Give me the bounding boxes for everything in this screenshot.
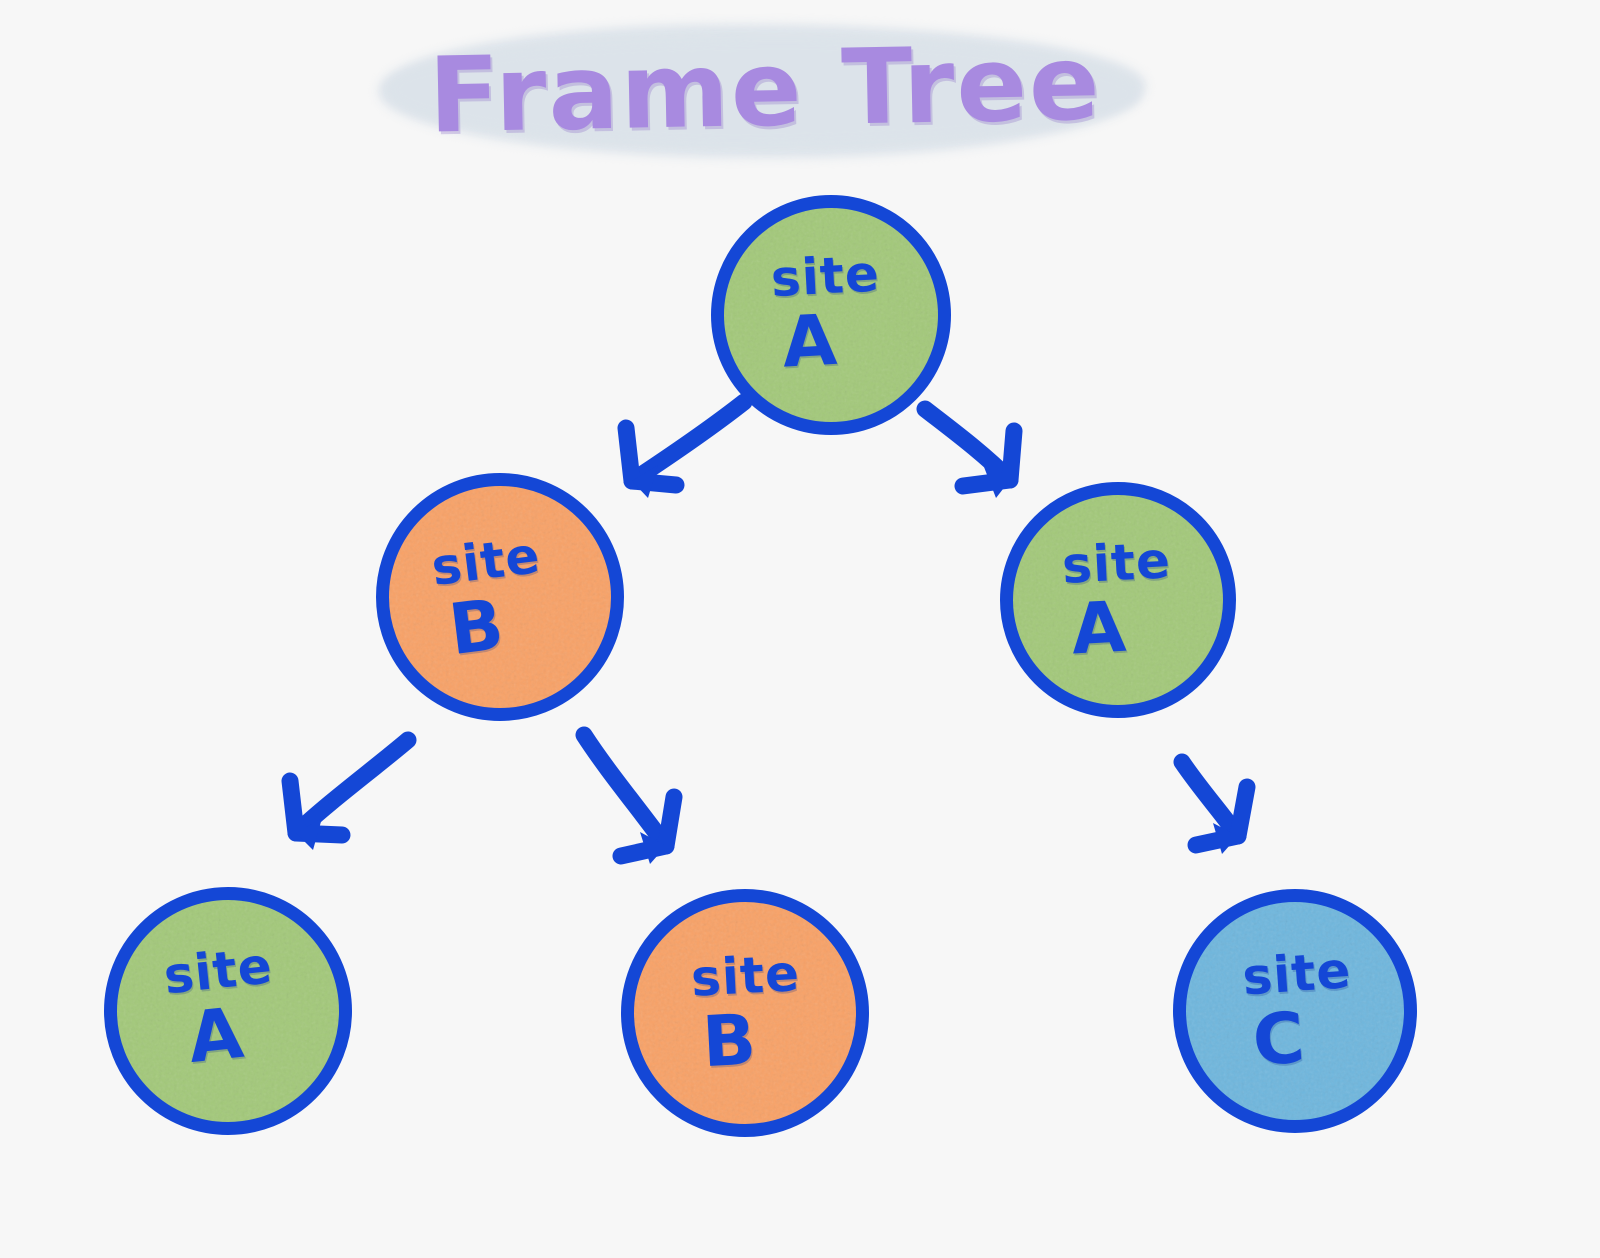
node-letter: A xyxy=(1069,591,1175,663)
node-letter: A xyxy=(780,304,884,376)
tree-node-leaf-left-site-a[interactable]: site A xyxy=(104,887,352,1135)
node-label-group: site A xyxy=(769,250,884,376)
node-site-word: site xyxy=(1061,537,1172,590)
node-site-word: site xyxy=(161,942,274,1001)
edge-mid-left-to-leaf-middle xyxy=(584,735,674,864)
node-letter: B xyxy=(700,1004,804,1076)
node-label-group: site A xyxy=(1061,537,1176,663)
frame-tree-diagram: Frame Tree xyxy=(0,0,1600,1258)
page-title: Frame Tree xyxy=(370,14,1160,164)
edge-mid-left-to-leaf-left xyxy=(290,740,408,850)
tree-node-root-site-a[interactable]: site A xyxy=(711,195,951,435)
tree-node-leaf-middle-site-b[interactable]: site B xyxy=(621,889,869,1137)
tree-node-leaf-right-site-c[interactable]: site C xyxy=(1173,889,1417,1133)
node-site-word: site xyxy=(690,950,801,1003)
node-site-word: site xyxy=(769,250,880,303)
tree-node-mid-left-site-b[interactable]: site B xyxy=(376,473,624,721)
edge-mid-right-to-leaf-right xyxy=(1182,762,1247,854)
node-site-word: site xyxy=(429,532,543,592)
node-letter: C xyxy=(1250,1000,1357,1074)
tree-node-mid-right-site-a[interactable]: site A xyxy=(1000,482,1236,718)
node-letter: B xyxy=(445,585,551,663)
node-site-word: site xyxy=(1241,947,1353,1002)
node-label-group: site C xyxy=(1241,947,1358,1074)
node-label-group: site A xyxy=(161,942,282,1073)
node-letter: A xyxy=(185,996,282,1072)
node-label-group: site B xyxy=(429,532,552,664)
node-label-group: site B xyxy=(690,950,805,1076)
edge-root-to-mid-left xyxy=(626,402,744,498)
edge-root-to-mid-right xyxy=(925,409,1014,498)
page-title-text: Frame Tree xyxy=(369,6,1162,171)
